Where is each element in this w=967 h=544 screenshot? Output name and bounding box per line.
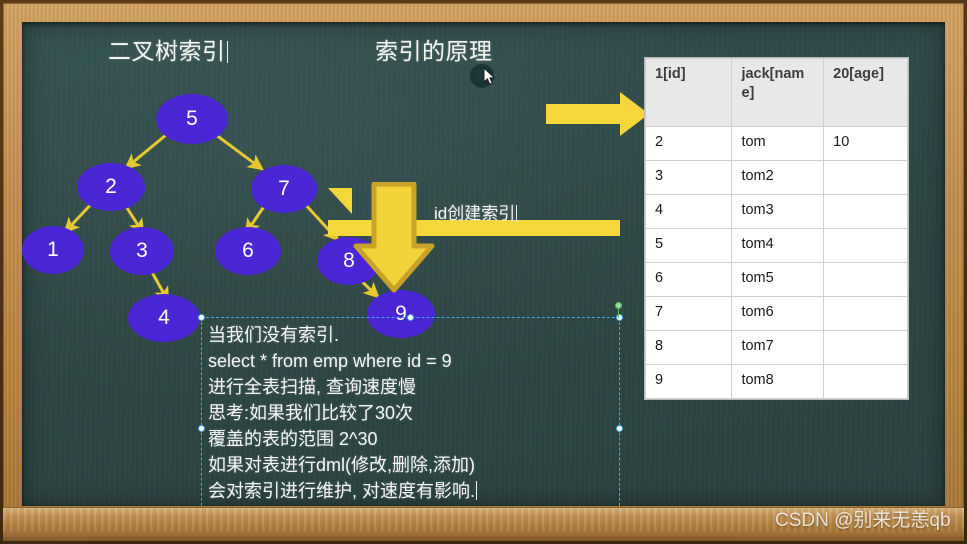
- tree-node-7[interactable]: 7: [251, 165, 317, 213]
- table-cell: tom: [732, 127, 824, 161]
- table-cell: 9: [646, 365, 732, 399]
- tree-node-4[interactable]: 4: [128, 294, 200, 342]
- text-caret: [476, 481, 477, 500]
- table-cell: tom5: [732, 263, 824, 297]
- resize-handle-middle-left[interactable]: [198, 425, 205, 432]
- table-cell: tom3: [732, 195, 824, 229]
- emp-data-table: 1[id]jack[name]20[age] 2tom103tom24tom35…: [645, 58, 908, 399]
- note-textbox[interactable]: 当我们没有索引.select * from emp where id = 9进行…: [208, 322, 628, 504]
- tree-node-5[interactable]: 5: [156, 94, 228, 144]
- index-label-text: id创建索引: [434, 204, 515, 223]
- note-line-1: select * from emp where id = 9: [208, 348, 628, 374]
- chalk-ledge-lip: [3, 532, 964, 541]
- tree-node-label: 5: [186, 107, 198, 131]
- note-line-6: 会对索引进行维护, 对速度有影响.: [208, 478, 628, 504]
- tree-node-6[interactable]: 6: [215, 227, 281, 275]
- table-cell: [824, 195, 908, 229]
- table-cell: [824, 263, 908, 297]
- table-body: 2tom103tom24tom35tom46tom57tom68tom79tom…: [646, 127, 908, 399]
- tree-node-label: 6: [242, 239, 254, 263]
- table-cell: 5: [646, 229, 732, 263]
- tree-node-3[interactable]: 3: [110, 227, 174, 275]
- table-row: 2tom10: [646, 127, 908, 161]
- table-column-header-1: jack[name]: [732, 59, 824, 127]
- table-cell: 3: [646, 161, 732, 195]
- table-cell: 2: [646, 127, 732, 161]
- text-caret: [516, 205, 517, 222]
- tree-node-label: 4: [158, 306, 170, 330]
- table-row: 5tom4: [646, 229, 908, 263]
- table-cell: [824, 161, 908, 195]
- note-line-3: 思考:如果我们比较了30次: [208, 400, 628, 426]
- table-cell: tom8: [732, 365, 824, 399]
- table-row: 6tom5: [646, 263, 908, 297]
- table-cell: 4: [646, 195, 732, 229]
- note-line-2: 进行全表扫描, 查询速度慢: [208, 374, 628, 400]
- tree-node-label: 3: [136, 239, 148, 263]
- note-line-5: 如果对表进行dml(修改,删除,添加): [208, 452, 628, 478]
- table-column-header-0: 1[id]: [646, 59, 732, 127]
- csdn-watermark: CSDN @别来无恙qb: [775, 505, 951, 532]
- table-cell: [824, 229, 908, 263]
- slide-screenshot: 二叉树索引 索引的原理 527136849: [0, 0, 967, 544]
- resize-handle-top-center[interactable]: [407, 314, 414, 321]
- note-line-4: 覆盖的表的范围 2^30: [208, 426, 628, 452]
- rotation-handle[interactable]: [615, 302, 622, 309]
- tree-node-label: 1: [47, 238, 59, 262]
- tree-node-label: 7: [278, 177, 290, 201]
- resize-handle-top-left[interactable]: [198, 314, 205, 321]
- table-cell: 6: [646, 263, 732, 297]
- table-cell: tom7: [732, 331, 824, 365]
- arrow-to-table-icon: [546, 90, 650, 138]
- table-cell: tom4: [732, 229, 824, 263]
- note-line-0: 当我们没有索引.: [208, 322, 628, 348]
- table-cell: tom6: [732, 297, 824, 331]
- table-column-header-2: 20[age]: [824, 59, 908, 127]
- table-header-row: 1[id]jack[name]20[age]: [646, 59, 908, 127]
- table-cell: [824, 331, 908, 365]
- index-creation-label: id创建索引: [434, 199, 517, 224]
- table-row: 7tom6: [646, 297, 908, 331]
- table-row: 8tom7: [646, 331, 908, 365]
- table-row: 9tom8: [646, 365, 908, 399]
- table-cell: tom2: [732, 161, 824, 195]
- table-header: 1[id]jack[name]20[age]: [646, 59, 908, 127]
- table-row: 3tom2: [646, 161, 908, 195]
- table-cell: [824, 297, 908, 331]
- table-row: 4tom3: [646, 195, 908, 229]
- chalkboard-surface: 二叉树索引 索引的原理 527136849: [22, 22, 945, 506]
- tree-node-1[interactable]: 1: [22, 226, 84, 274]
- table-cell: 7: [646, 297, 732, 331]
- tree-node-2[interactable]: 2: [77, 163, 145, 211]
- tree-node-label: 2: [105, 175, 117, 199]
- table-cell: 8: [646, 331, 732, 365]
- table-cell: [824, 365, 908, 399]
- table-cell: 10: [824, 127, 908, 161]
